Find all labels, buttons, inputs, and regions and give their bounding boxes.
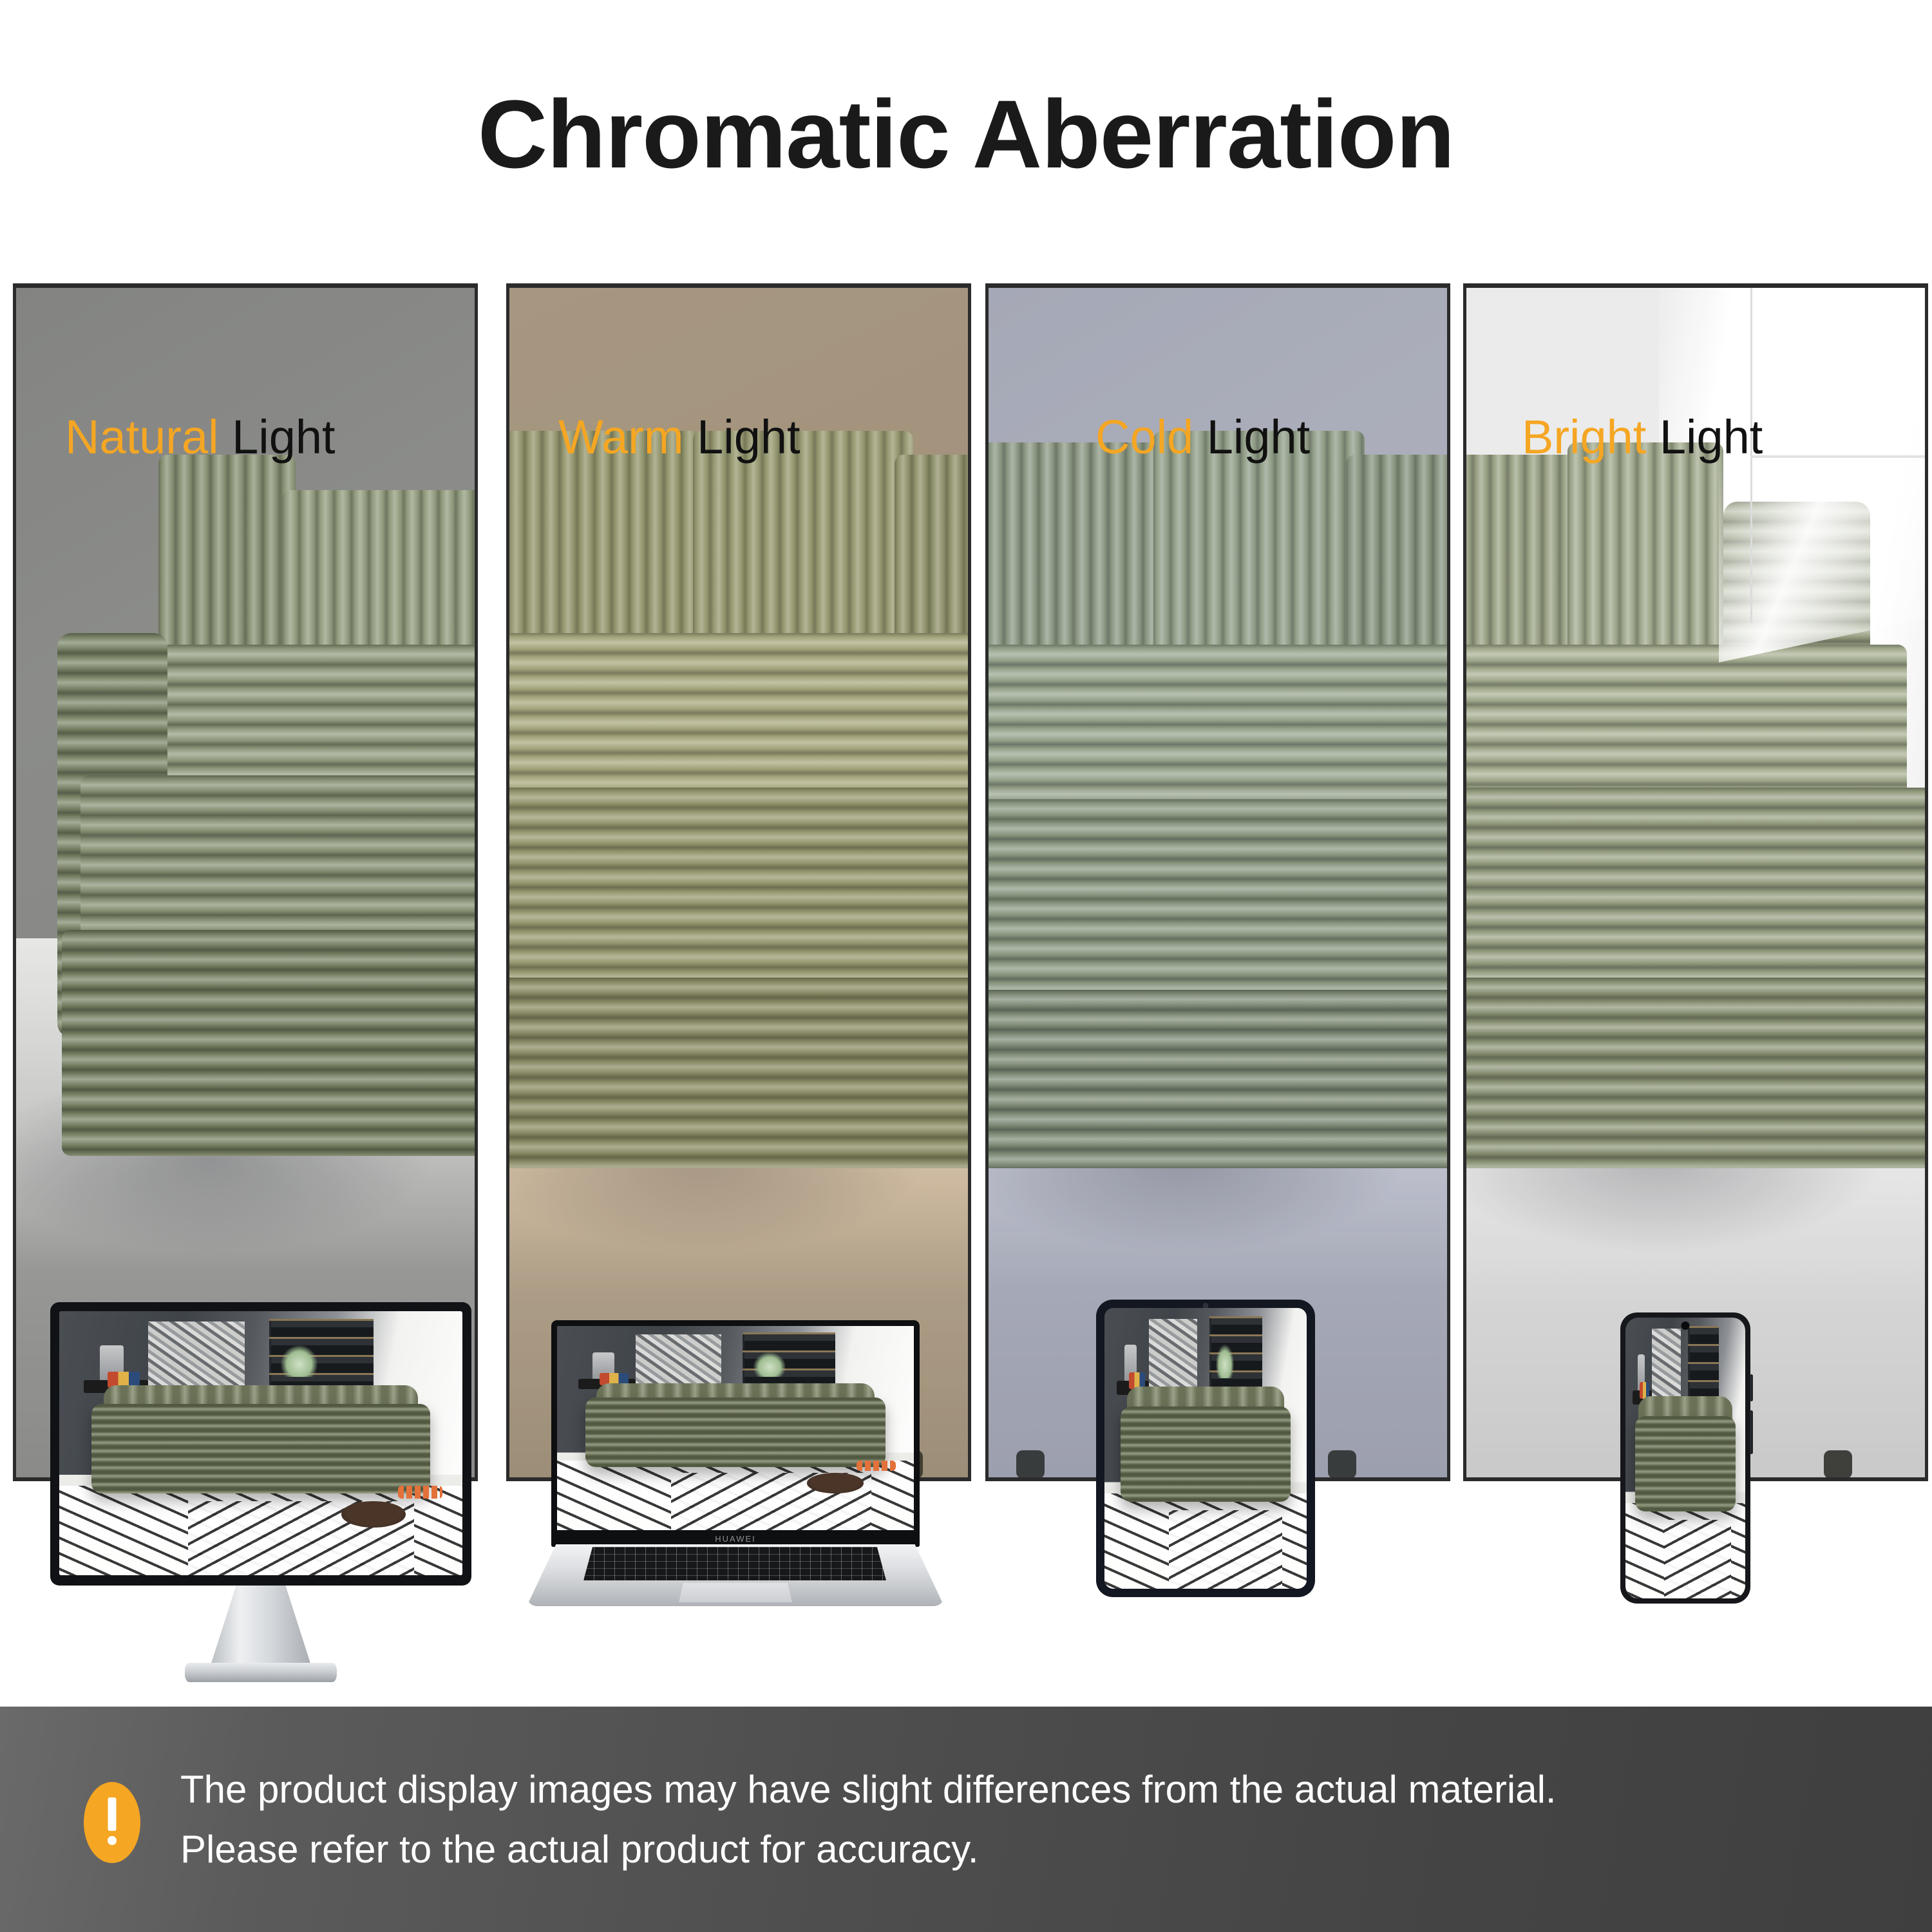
sofa-in-scene (585, 1397, 885, 1467)
sofa-in-scene (91, 1404, 430, 1493)
camera-icon (1681, 1321, 1690, 1330)
exclamation-stroke (108, 1797, 117, 1831)
disclaimer-text: The product display images may have slig… (180, 1759, 1557, 1879)
laptop-trackpad[interactable] (679, 1583, 792, 1602)
monitor-stand-neck (209, 1586, 312, 1669)
plant-decor (1216, 1345, 1234, 1378)
warning-exclamation-icon (84, 1782, 140, 1863)
tablet-screen (1104, 1308, 1307, 1589)
laptop-keyboard[interactable] (583, 1547, 886, 1580)
disclaimer-bar: The product display images may have slig… (0, 1707, 1932, 1932)
device-mockups: HUAWEI (0, 0, 1932, 1932)
room-scene-image (59, 1311, 462, 1575)
phone-screen (1625, 1318, 1745, 1598)
laptop-lid: HUAWEI (551, 1320, 920, 1547)
phone-volume-button[interactable] (1750, 1374, 1753, 1401)
room-scene-image (557, 1326, 914, 1530)
disclaimer-line-2: Please refer to the actual product for a… (180, 1819, 1557, 1879)
smartphone-mockup[interactable] (1620, 1312, 1750, 1604)
plant-decor (281, 1345, 317, 1377)
room-scene-image (1104, 1308, 1307, 1589)
fruit-bowl (398, 1486, 442, 1499)
disclaimer-line-1: The product display images may have slig… (180, 1759, 1557, 1819)
monitor-screen (59, 1311, 462, 1575)
room-scene-image (1625, 1318, 1745, 1598)
sofa-in-scene (1121, 1406, 1291, 1502)
exclamation-dot (108, 1836, 117, 1845)
plant-decor (753, 1352, 786, 1377)
product-chromatic-aberration-page: Chromatic Aberration Natural (0, 0, 1932, 1932)
laptop-brand-label: HUAWEI (551, 1534, 920, 1544)
area-rug-overlay (1664, 1520, 1731, 1598)
desktop-monitor-mockup[interactable] (50, 1302, 471, 1586)
fruit-bowl (857, 1461, 896, 1471)
sofa-in-scene (1635, 1416, 1736, 1511)
tablet-mockup[interactable] (1096, 1300, 1315, 1597)
coffee-tray (807, 1473, 864, 1493)
laptop-mockup[interactable]: HUAWEI (527, 1320, 944, 1591)
monitor-stand-base (185, 1663, 337, 1682)
phone-power-button[interactable] (1750, 1410, 1753, 1454)
area-rug-overlay (1169, 1510, 1282, 1589)
laptop-screen (557, 1326, 914, 1530)
